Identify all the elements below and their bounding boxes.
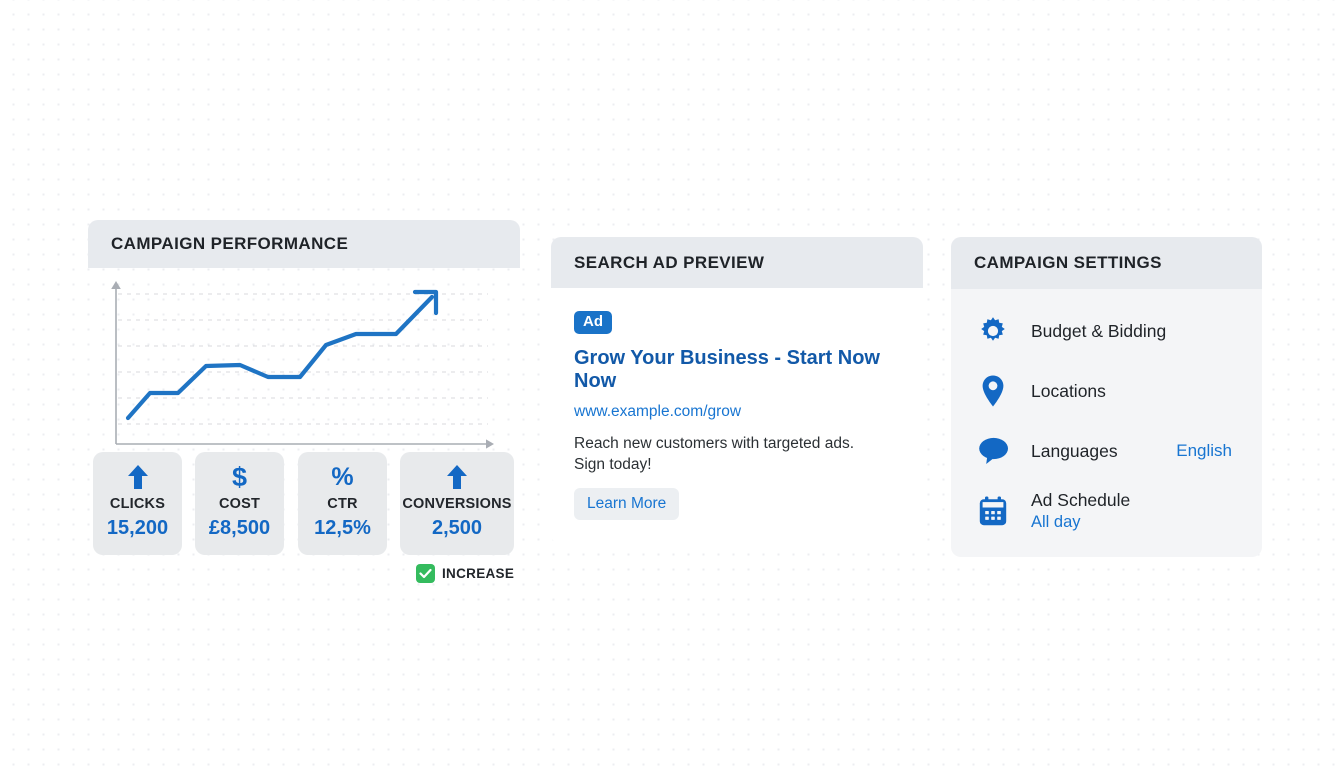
setting-label: Locations <box>1031 381 1106 402</box>
app-root: CAMPAIGN PERFORMANCE <box>0 0 1344 768</box>
calendar-icon <box>974 492 1012 530</box>
percent-icon: % <box>331 462 353 492</box>
ad-badge: Ad <box>574 311 612 334</box>
setting-row-ad-schedule[interactable]: Ad Schedule All day <box>951 481 1262 541</box>
search-ad-preview-title: SEARCH AD PREVIEW <box>574 253 764 273</box>
campaign-performance-header: CAMPAIGN PERFORMANCE <box>88 220 520 268</box>
search-ad-preview-header: SEARCH AD PREVIEW <box>551 237 923 288</box>
search-ad-preview-body: Ad Grow Your Business - Start Now Now ww… <box>551 288 923 544</box>
learn-more-button[interactable]: Learn More <box>574 488 679 520</box>
metric-card[interactable]: CONVERSIONS 2,500 <box>400 452 514 555</box>
setting-row-budget-bidding[interactable]: Budget & Bidding <box>951 301 1262 361</box>
ad-headline[interactable]: Grow Your Business - Start Now Now <box>574 347 896 394</box>
campaign-settings-body: Budget & Bidding Locations <box>951 289 1262 557</box>
gear-icon <box>974 312 1012 350</box>
setting-label: Budget & Bidding <box>1031 321 1166 342</box>
setting-value-language[interactable]: English <box>1176 441 1262 461</box>
metric-value: 2,500 <box>432 517 482 540</box>
chart-svg <box>88 272 520 452</box>
metric-card[interactable]: % CTR 12,5% <box>298 452 387 555</box>
campaign-settings-title: CAMPAIGN SETTINGS <box>974 253 1162 273</box>
arrow-up-icon <box>446 462 468 492</box>
speech-bubble-icon <box>974 432 1012 470</box>
metric-label: CLICKS <box>110 496 165 512</box>
metric-value: £8,500 <box>209 517 270 540</box>
metric-label: COST <box>219 496 260 512</box>
metric-card[interactable]: $ COST £8,500 <box>195 452 284 555</box>
chart-series-line <box>128 297 432 418</box>
setting-label: Ad Schedule <box>1031 490 1130 511</box>
campaign-settings-header: CAMPAIGN SETTINGS <box>951 237 1262 289</box>
metric-label: CONVERSIONS <box>402 496 511 512</box>
metric-label: CTR <box>327 496 357 512</box>
campaign-performance-title: CAMPAIGN PERFORMANCE <box>111 234 348 254</box>
ad-display-url[interactable]: www.example.com/grow <box>574 403 900 421</box>
dollar-icon: $ <box>232 462 247 492</box>
setting-sublabel: All day <box>1031 513 1130 532</box>
increase-label: INCREASE <box>442 566 514 581</box>
chart-gridlines <box>118 294 488 424</box>
location-pin-icon <box>974 372 1012 410</box>
ad-description: Reach new customers with targeted ads. S… <box>574 433 874 475</box>
arrow-up-icon <box>127 462 149 492</box>
campaign-settings-panel: CAMPAIGN SETTINGS Budget & Bidding <box>951 237 1262 557</box>
metric-value: 15,200 <box>107 517 168 540</box>
search-ad-preview-panel: SEARCH AD PREVIEW Ad Grow Your Business … <box>551 237 923 544</box>
setting-label: Languages <box>1031 441 1118 462</box>
increase-legend: INCREASE <box>416 564 514 583</box>
performance-line-chart <box>88 272 520 452</box>
setting-row-locations[interactable]: Locations <box>951 361 1262 421</box>
checkbox-checked-icon[interactable] <box>416 564 435 583</box>
metric-value: 12,5% <box>314 517 371 540</box>
setting-row-languages[interactable]: Languages English <box>951 421 1262 481</box>
metric-card[interactable]: CLICKS 15,200 <box>93 452 182 555</box>
